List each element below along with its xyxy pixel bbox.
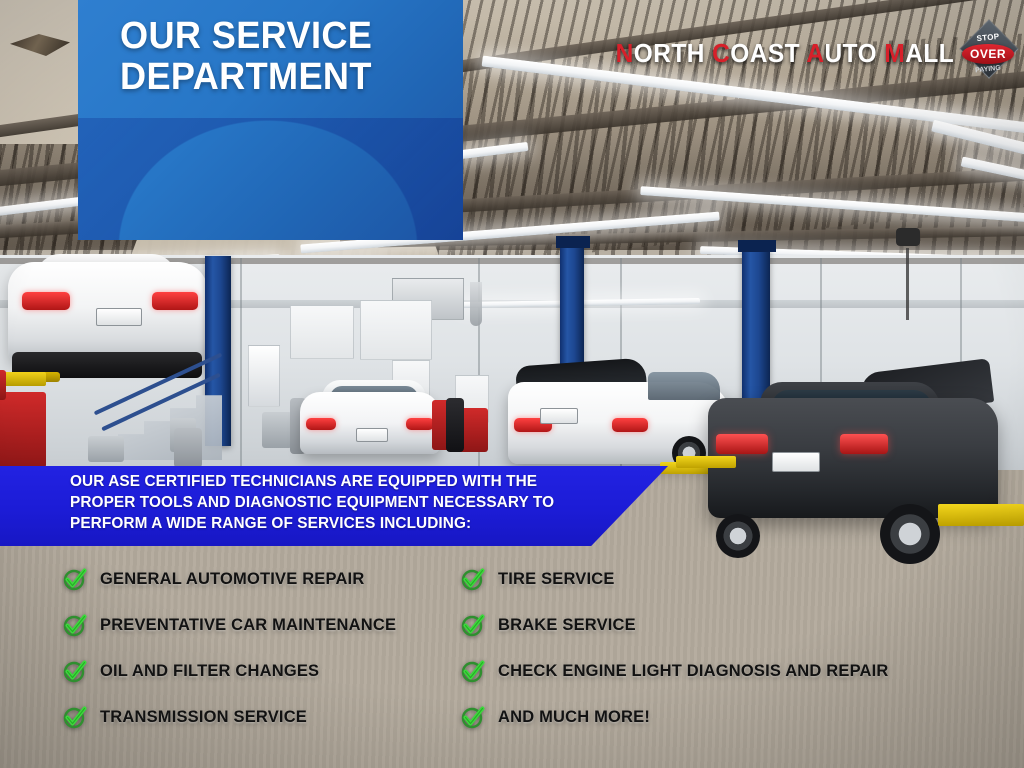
list-item: AND MUCH MORE! — [460, 694, 1020, 740]
list-item: TIRE SERVICE — [460, 556, 1020, 602]
logo-word-2-rest: OAST — [730, 38, 800, 68]
services-checklist: GENERAL AUTOMOTIVE REPAIR PREVENTATIVE C… — [0, 556, 1024, 736]
badge-line2: OVER — [962, 44, 1014, 64]
green-check-icon — [460, 704, 486, 730]
banner-line-1: OUR ASE CERTIFIED TECHNICIANS ARE EQUIPP… — [70, 472, 608, 493]
list-item-label: TIRE SERVICE — [498, 569, 615, 589]
yellow-equipment-bar — [0, 372, 46, 386]
brand-logo[interactable]: NORTH COAST AUTO MALL STOP OVER PAYING — [594, 26, 1016, 80]
wall-panel — [290, 305, 354, 359]
info-banner-text: OUR ASE CERTIFIED TECHNICIANS ARE EQUIPP… — [70, 472, 608, 534]
red-tool-cabinet — [0, 370, 6, 400]
waste-drum — [446, 398, 464, 452]
green-check-icon — [62, 612, 88, 638]
hanging-cord — [906, 248, 909, 320]
list-item: OIL AND FILTER CHANGES — [62, 648, 462, 694]
logo-word-3-cap: A — [806, 38, 824, 68]
waste-drum — [174, 428, 202, 468]
logo-word-3-rest: UTO — [824, 38, 877, 68]
list-item-label: OIL AND FILTER CHANGES — [100, 661, 319, 681]
hanging-hose — [470, 282, 482, 326]
stop-over-paying-badge-icon: STOP OVER PAYING — [960, 26, 1016, 80]
list-item: BRAKE SERVICE — [460, 602, 1020, 648]
badge-line3: PAYING — [971, 62, 1004, 77]
list-item: TRANSMISSION SERVICE — [62, 694, 462, 740]
green-check-icon — [62, 658, 88, 684]
list-item: PREVENTATIVE CAR MAINTENANCE — [62, 602, 462, 648]
list-item-label: AND MUCH MORE! — [498, 707, 650, 727]
header-arch-overlay — [78, 118, 463, 240]
equipment-cabinet — [248, 345, 280, 407]
wall-seam — [240, 258, 242, 468]
list-item-label: GENERAL AUTOMOTIVE REPAIR — [100, 569, 364, 589]
services-column-right: TIRE SERVICE BRAKE SERVICE — [460, 556, 1020, 740]
services-column-left: GENERAL AUTOMOTIVE REPAIR PREVENTATIVE C… — [62, 556, 462, 740]
list-item-label: CHECK ENGINE LIGHT DIAGNOSIS AND REPAIR — [498, 661, 889, 681]
lift-column-cap — [556, 236, 590, 248]
list-item: CHECK ENGINE LIGHT DIAGNOSIS AND REPAIR — [460, 648, 1020, 694]
hose-reel — [896, 228, 920, 246]
green-check-icon — [460, 566, 486, 592]
green-check-icon — [62, 704, 88, 730]
logo-word-1-cap: N — [615, 38, 633, 68]
list-item-label: TRANSMISSION SERVICE — [100, 707, 307, 727]
list-item: GENERAL AUTOMOTIVE REPAIR — [62, 556, 462, 602]
logo-word-1-rest: ORTH — [634, 38, 705, 68]
brand-logo-text: NORTH COAST AUTO MALL — [615, 38, 954, 69]
parts-bin — [88, 436, 124, 462]
page-title-line2: DEPARTMENT — [120, 57, 434, 98]
logo-word-4-cap: M — [884, 38, 905, 68]
page-title: OUR SERVICE DEPARTMENT — [120, 16, 434, 98]
service-department-promo-graphic: OUR SERVICE DEPARTMENT NORTH COAST AUTO … — [0, 0, 1024, 768]
green-check-icon — [460, 658, 486, 684]
list-item-label: PREVENTATIVE CAR MAINTENANCE — [100, 615, 396, 635]
red-tool-cabinet — [0, 392, 46, 468]
page-title-line1: OUR SERVICE — [120, 15, 372, 57]
green-check-icon — [460, 612, 486, 638]
parts-bin — [262, 412, 292, 448]
lift-column-cap — [738, 240, 776, 252]
wall-panel — [360, 300, 432, 360]
green-check-icon — [62, 566, 88, 592]
banner-line-2: PROPER TOOLS AND DIAGNOSTIC EQUIPMENT NE… — [70, 493, 608, 514]
logo-word-2-cap: C — [712, 38, 730, 68]
list-item-label: BRAKE SERVICE — [498, 615, 636, 635]
logo-word-4-rest: ALL — [905, 38, 954, 68]
banner-line-3: PERFORM A WIDE RANGE OF SERVICES INCLUDI… — [70, 514, 608, 535]
header-block: OUR SERVICE DEPARTMENT — [78, 0, 463, 240]
